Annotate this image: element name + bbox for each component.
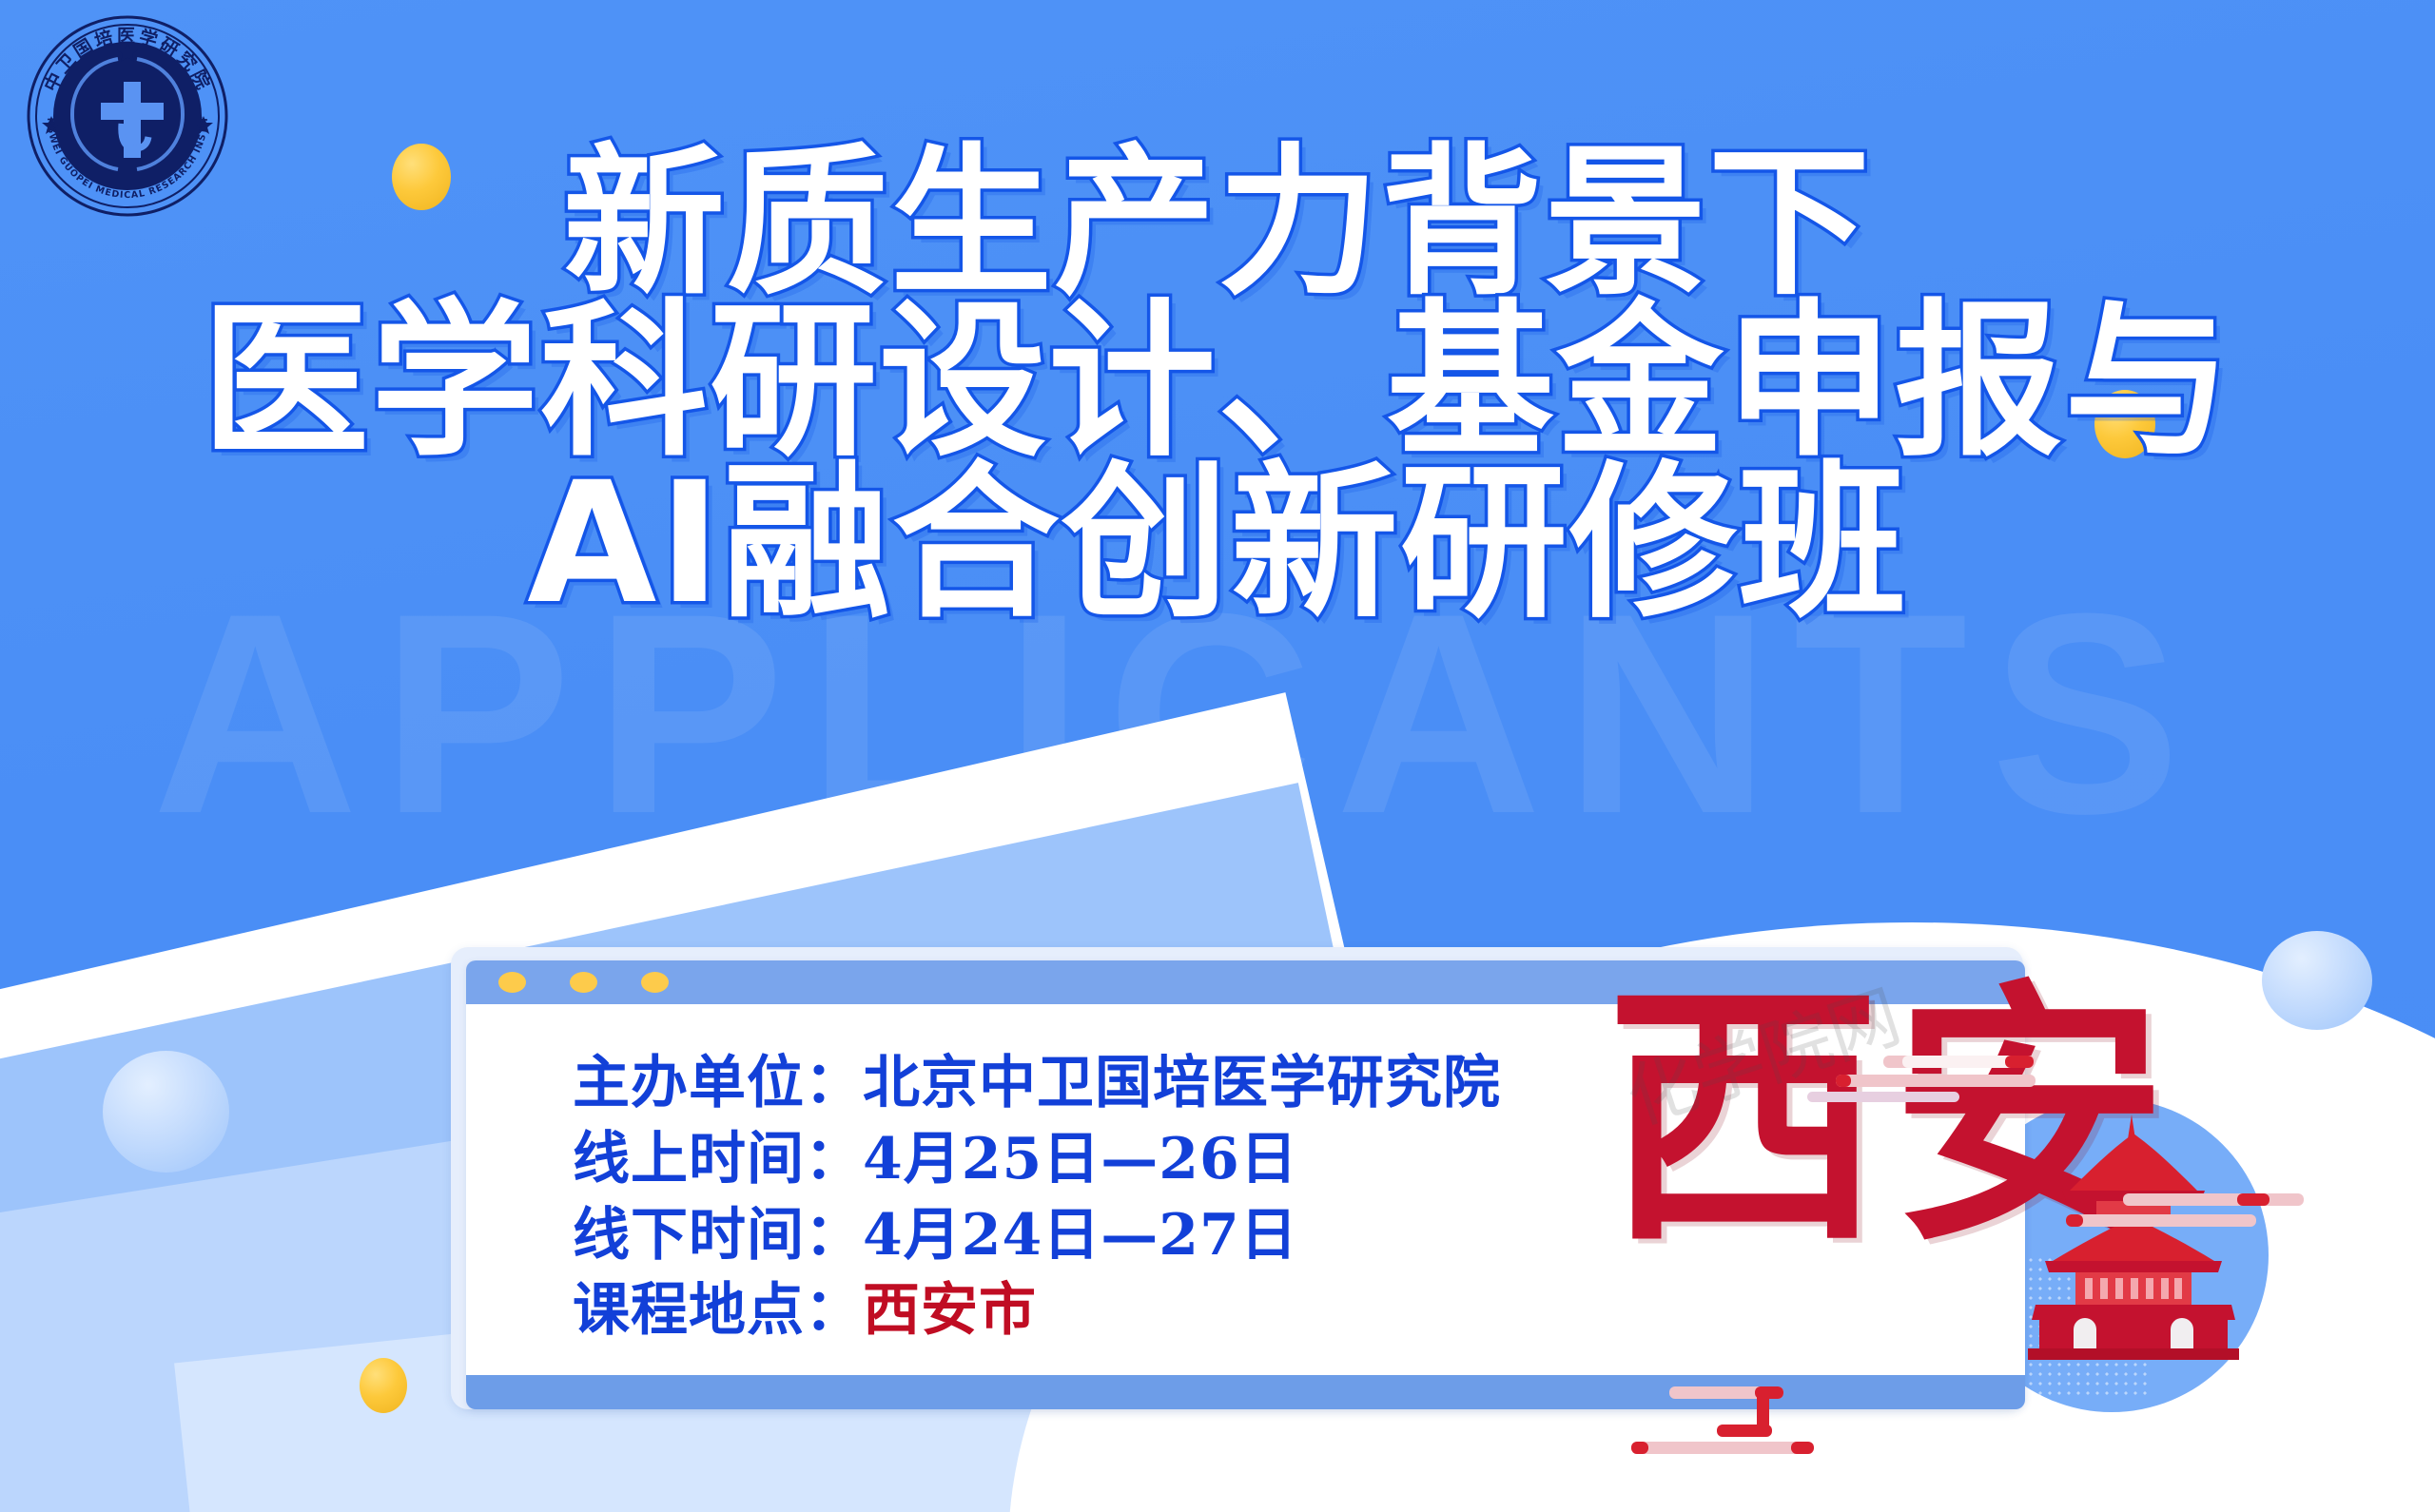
info-value-online-date: 4月25日—26日 bbox=[863, 1126, 1298, 1192]
window-dot-icon-1 bbox=[498, 972, 526, 993]
info-label-offline-date: 线下时间： bbox=[573, 1202, 863, 1269]
poster-title: 新质生产力背景下 医学科研设计、基金申报与 AI融合创新研修班 bbox=[0, 143, 2435, 628]
red-deco-right bbox=[2009, 1193, 2294, 1260]
deco-bar bbox=[1717, 1425, 1772, 1437]
deco-bar bbox=[1807, 1092, 1959, 1102]
info-value-organizer: 北京中卫国培医学研究院 bbox=[863, 1050, 1501, 1116]
red-deco-bottom bbox=[1574, 1386, 1860, 1491]
info-value-offline-date: 4月24日—27日 bbox=[863, 1202, 1298, 1269]
deco-bar bbox=[2237, 1193, 2269, 1206]
deco-bar bbox=[2066, 1214, 2256, 1227]
deco-bar bbox=[2123, 1193, 2304, 1206]
deco-bar bbox=[1836, 1075, 2036, 1087]
info-label-online-date: 线上时间： bbox=[573, 1126, 863, 1192]
info-value-location: 西安市 bbox=[863, 1277, 1037, 1344]
deco-bar bbox=[2005, 1056, 2034, 1068]
blue-sphere-right bbox=[2262, 931, 2372, 1030]
poster-canvas: APPLICANTS bbox=[0, 0, 2435, 1512]
yellow-sphere-bottom-left bbox=[360, 1358, 407, 1413]
deco-bar bbox=[2066, 1214, 2083, 1227]
title-line-1: 新质生产力背景下 bbox=[0, 143, 2435, 304]
info-label-organizer: 主办单位： bbox=[573, 1050, 863, 1116]
deco-bar bbox=[1791, 1442, 1814, 1454]
window-dot-icon-2 bbox=[570, 972, 597, 993]
info-row-location: 课程地点：西安市 bbox=[573, 1273, 2025, 1349]
info-label-location: 课程地点： bbox=[573, 1277, 863, 1344]
deco-bar bbox=[1631, 1442, 1812, 1454]
deco-bar bbox=[1631, 1442, 1648, 1454]
blue-sphere-left bbox=[103, 1051, 229, 1173]
title-line-2: 医学科研设计、基金申报与 bbox=[0, 299, 2435, 466]
title-line-3: AI融合创新研修班 bbox=[0, 460, 2435, 628]
window-dot-icon-3 bbox=[641, 972, 669, 993]
